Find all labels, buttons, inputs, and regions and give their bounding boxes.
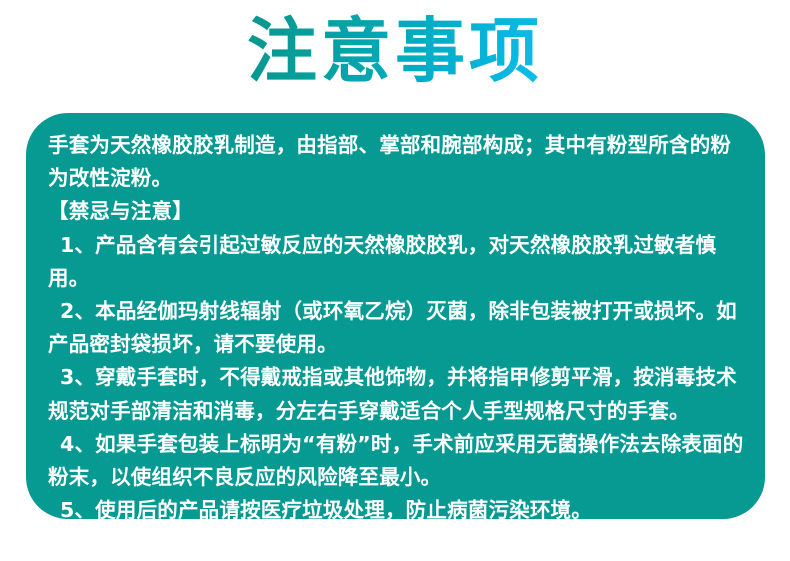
notice-item-4: 4、如果手套包装上标明为“有粉”时，手术前应采用无菌操作法去除表面的粉末，以使组… bbox=[48, 428, 747, 494]
notice-panel: 手套为天然橡胶胶乳制造，由指部、掌部和腕部构成；其中有粉型所含的粉为改性淀粉。 … bbox=[26, 113, 765, 519]
notice-item-6: 6、操作高频手术器械，建议选用光面型的橡胶外科手套。 bbox=[48, 527, 747, 560]
notice-item-3: 3、穿戴手套时，不得戴戒指或其他饰物，并将指甲修剪平滑，按消毒技术规范对手部清洁… bbox=[48, 361, 747, 427]
notice-item-2: 2、本品经伽玛射线辐射（或环氧乙烷）灭菌，除非包装被打开或损坏。如产品密封袋损坏… bbox=[48, 295, 747, 361]
page-title-container: 注意事项 bbox=[0, 14, 790, 90]
notice-section-heading: 【禁忌与注意】 bbox=[48, 195, 747, 228]
page-root: 注意事项 手套为天然橡胶胶乳制造，由指部、掌部和腕部构成；其中有粉型所含的粉为改… bbox=[0, 0, 790, 559]
notice-intro-paragraph: 手套为天然橡胶胶乳制造，由指部、掌部和腕部构成；其中有粉型所含的粉为改性淀粉。 bbox=[48, 129, 747, 195]
notice-body: 手套为天然橡胶胶乳制造，由指部、掌部和腕部构成；其中有粉型所含的粉为改性淀粉。 … bbox=[48, 129, 747, 561]
notice-item-1: 1、产品含有会引起过敏反应的天然橡胶胶乳，对天然橡胶胶乳过敏者慎用。 bbox=[48, 229, 747, 295]
notice-item-5: 5、使用后的产品请按医疗垃圾处理，防止病菌污染环境。 bbox=[48, 494, 747, 527]
page-title: 注意事项 bbox=[247, 14, 543, 90]
